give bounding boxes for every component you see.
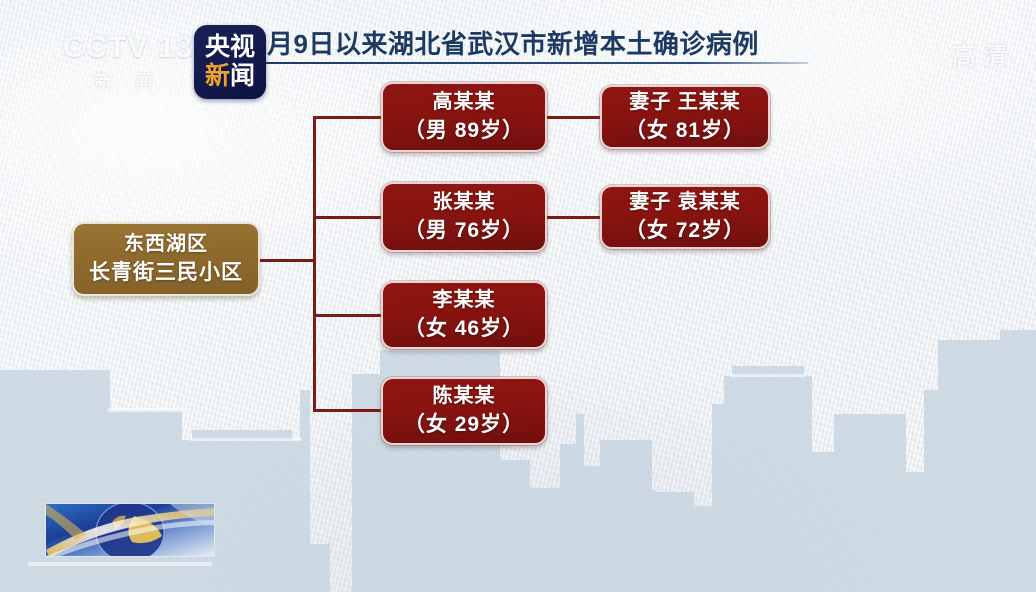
- logo-line-1: 央 视: [205, 35, 255, 60]
- tree-node-case-2-spouse-name: 妻子 袁某某: [629, 191, 741, 214]
- tree-node-source-line-2: 长青街三民小区: [89, 260, 243, 285]
- tree-node-case-2-spouse[interactable]: 妻子 袁某某 （女 72岁）: [600, 185, 770, 249]
- connector-branch-4: [313, 409, 381, 412]
- connector-source-stub: [258, 259, 316, 262]
- tree-node-case-2-spouse-detail: （女 72岁）: [625, 218, 745, 243]
- logo-char-yang: 央: [205, 35, 230, 60]
- page-title: 5月9日以来湖北省武汉市新增本土确诊病例: [252, 24, 832, 61]
- globe-graphic-thumbnail: [46, 504, 214, 556]
- connector-vertical-trunk: [313, 116, 316, 412]
- tree-node-case-2-name: 张某某: [433, 191, 496, 214]
- tree-node-case-1-spouse-detail: （女 81岁）: [625, 118, 745, 143]
- tree-node-case-4-detail: （女 29岁）: [404, 412, 524, 437]
- tree-node-case-1-name: 高某某: [433, 91, 496, 114]
- broadcast-screen: CCTV 13 新 闻 高清 央 视 新 闻 5月9日以来湖北省武汉市新增本土确…: [0, 0, 1036, 592]
- tree-node-case-4[interactable]: 陈某某 （女 29岁）: [381, 377, 547, 445]
- connector-branch-3: [313, 314, 381, 317]
- tree-node-case-1-spouse-name: 妻子 王某某: [629, 91, 741, 114]
- tree-node-case-3[interactable]: 李某某 （女 46岁）: [381, 281, 547, 349]
- tree-node-case-2-detail: （男 76岁）: [404, 218, 524, 243]
- tree-node-source[interactable]: 东西湖区 长青街三民小区: [72, 222, 260, 296]
- logo-char-shi: 视: [230, 35, 255, 60]
- tree-node-case-4-name: 陈某某: [433, 385, 496, 408]
- connector-branch-2: [313, 216, 381, 219]
- tree-node-case-3-name: 李某某: [433, 289, 496, 312]
- connector-spouse-link-1: [545, 116, 607, 119]
- cctv-news-logo-badge: 央 视 新 闻: [194, 25, 266, 99]
- tree-node-case-2[interactable]: 张某某 （男 76岁）: [381, 182, 547, 252]
- logo-char-wen: 闻: [230, 64, 255, 89]
- logo-char-xin: 新: [205, 64, 230, 89]
- tree-node-source-line-1: 东西湖区: [124, 233, 208, 256]
- connector-spouse-link-2: [545, 216, 607, 219]
- headline-container: 5月9日以来湖北省武汉市新增本土确诊病例: [232, 24, 832, 72]
- tree-node-case-1[interactable]: 高某某 （男 89岁）: [381, 82, 547, 152]
- tree-node-case-3-detail: （女 46岁）: [404, 316, 524, 341]
- tree-node-case-1-detail: （男 89岁）: [404, 118, 524, 143]
- tree-node-case-1-spouse[interactable]: 妻子 王某某 （女 81岁）: [600, 85, 770, 149]
- connector-branch-1: [313, 116, 381, 119]
- logo-line-2: 新 闻: [205, 64, 255, 89]
